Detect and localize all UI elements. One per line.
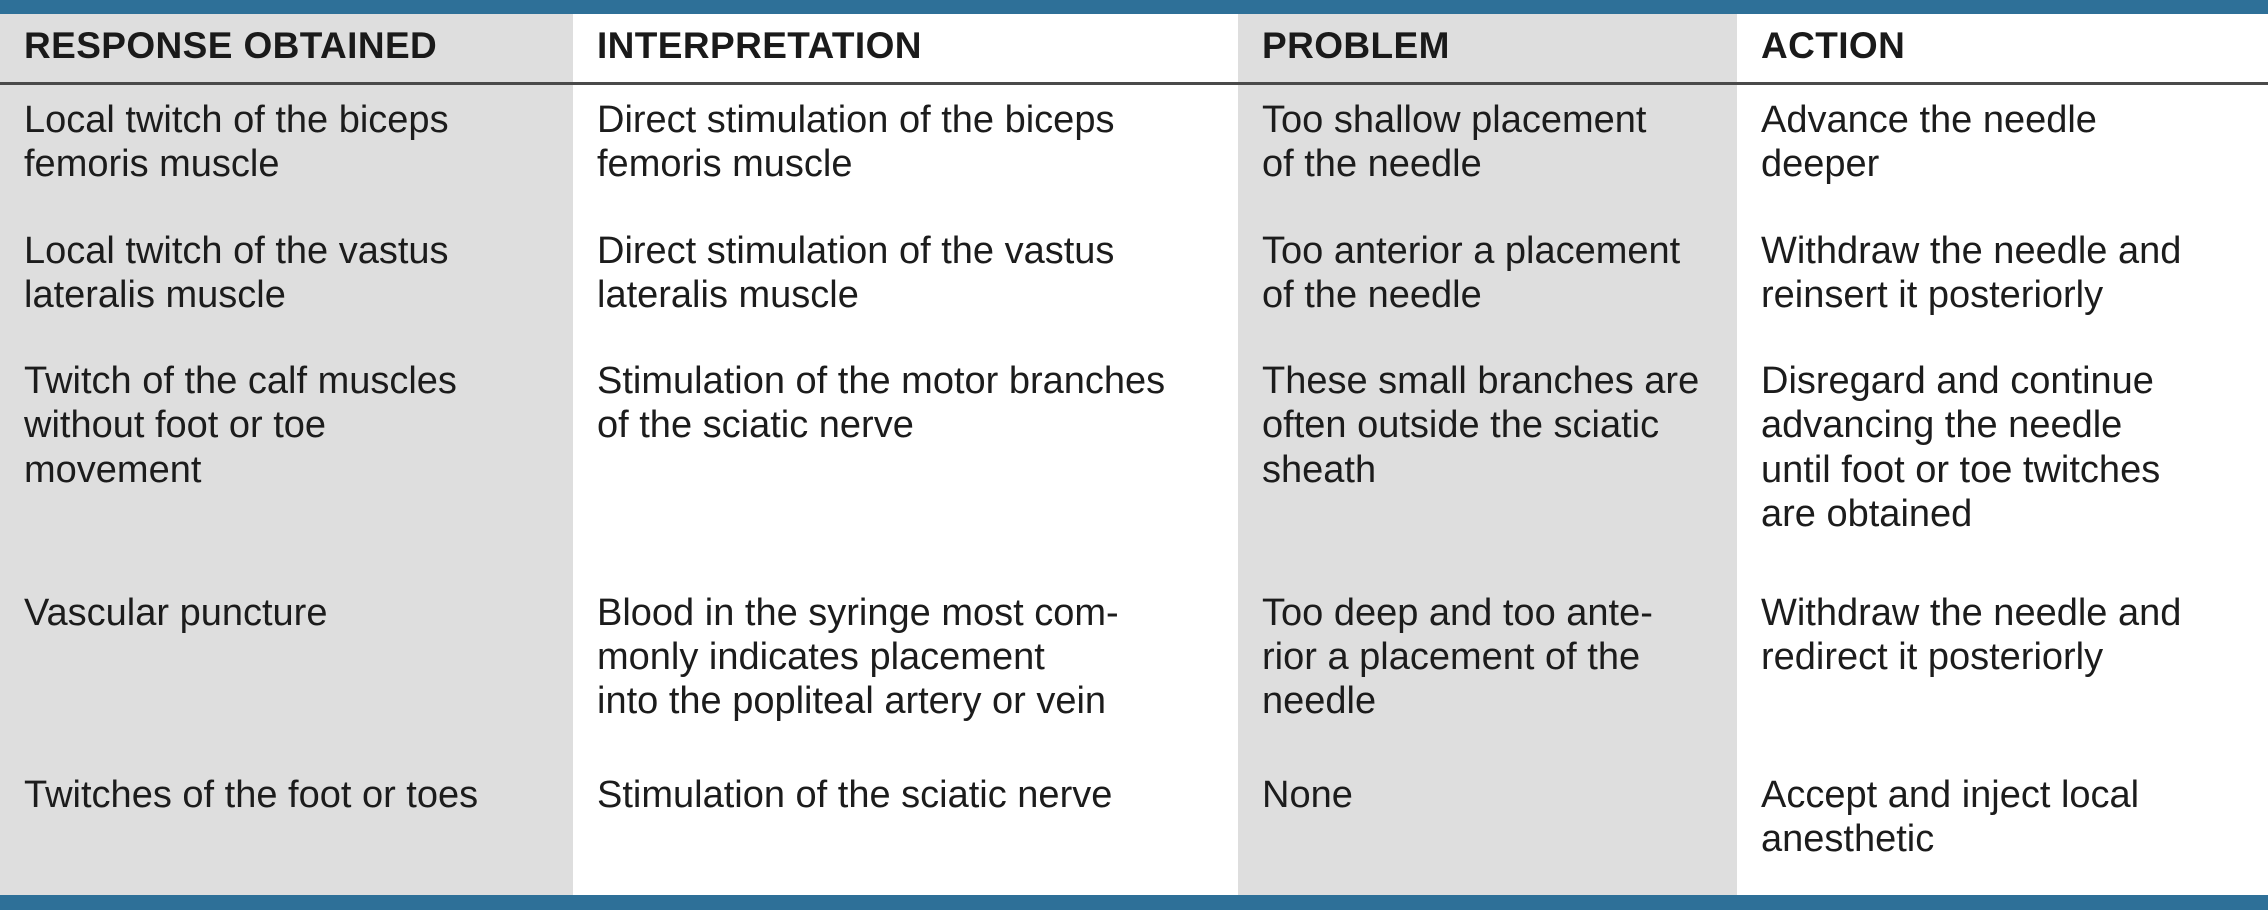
table-body: Local twitch of the biceps femoris muscl… [0, 83, 2268, 895]
cell-action: Disregard and continue advancing the nee… [1737, 346, 2268, 578]
cell-problem: Too anterior a placement of the needle [1238, 216, 1737, 347]
cell-problem: None [1238, 760, 1737, 895]
table-page: RESPONSE OBTAINED INTERPRETATION PROBLEM… [0, 0, 2268, 910]
cell-response: Twitch of the calf muscles without foot … [0, 346, 573, 578]
cell-action: Advance the needle deeper [1737, 83, 2268, 216]
column-header-action: ACTION [1737, 14, 2268, 83]
cell-response: Local twitch of the biceps femoris muscl… [0, 83, 573, 216]
column-header-response-obtained: RESPONSE OBTAINED [0, 14, 573, 83]
column-header-problem: PROBLEM [1238, 14, 1737, 83]
table-row: Local twitch of the vastus lateralis mus… [0, 216, 2268, 347]
table-row: Local twitch of the biceps femoris muscl… [0, 83, 2268, 216]
bottom-accent-bar [0, 895, 2268, 910]
cell-problem: Too shallow placement of the needle [1238, 83, 1737, 216]
cell-response: Vascular puncture [0, 578, 573, 759]
table-header-row: RESPONSE OBTAINED INTERPRETATION PROBLEM… [0, 14, 2268, 83]
top-accent-bar [0, 0, 2268, 14]
cell-response: Local twitch of the vastus lateralis mus… [0, 216, 573, 347]
cell-response: Twitches of the foot or toes [0, 760, 573, 895]
cell-interpretation: Blood in the syringe most com- monly ind… [573, 578, 1238, 759]
cell-action: Accept and inject local anesthetic [1737, 760, 2268, 895]
response-interpretation-table: RESPONSE OBTAINED INTERPRETATION PROBLEM… [0, 14, 2268, 895]
cell-action: Withdraw the needle and redirect it post… [1737, 578, 2268, 759]
table-row: Twitches of the foot or toes Stimulation… [0, 760, 2268, 895]
table-row: Vascular puncture Blood in the syringe m… [0, 578, 2268, 759]
cell-interpretation: Direct stimulation of the vastus lateral… [573, 216, 1238, 347]
cell-action: Withdraw the needle and reinsert it post… [1737, 216, 2268, 347]
column-header-interpretation: INTERPRETATION [573, 14, 1238, 83]
cell-interpretation: Direct stimulation of the biceps femoris… [573, 83, 1238, 216]
cell-problem: Too deep and too ante- rior a placement … [1238, 578, 1737, 759]
cell-interpretation: Stimulation of the motor branches of the… [573, 346, 1238, 578]
cell-interpretation: Stimulation of the sciatic nerve [573, 760, 1238, 895]
cell-problem: These small branches are often outside t… [1238, 346, 1737, 578]
table-row: Twitch of the calf muscles without foot … [0, 346, 2268, 578]
table-header: RESPONSE OBTAINED INTERPRETATION PROBLEM… [0, 14, 2268, 83]
